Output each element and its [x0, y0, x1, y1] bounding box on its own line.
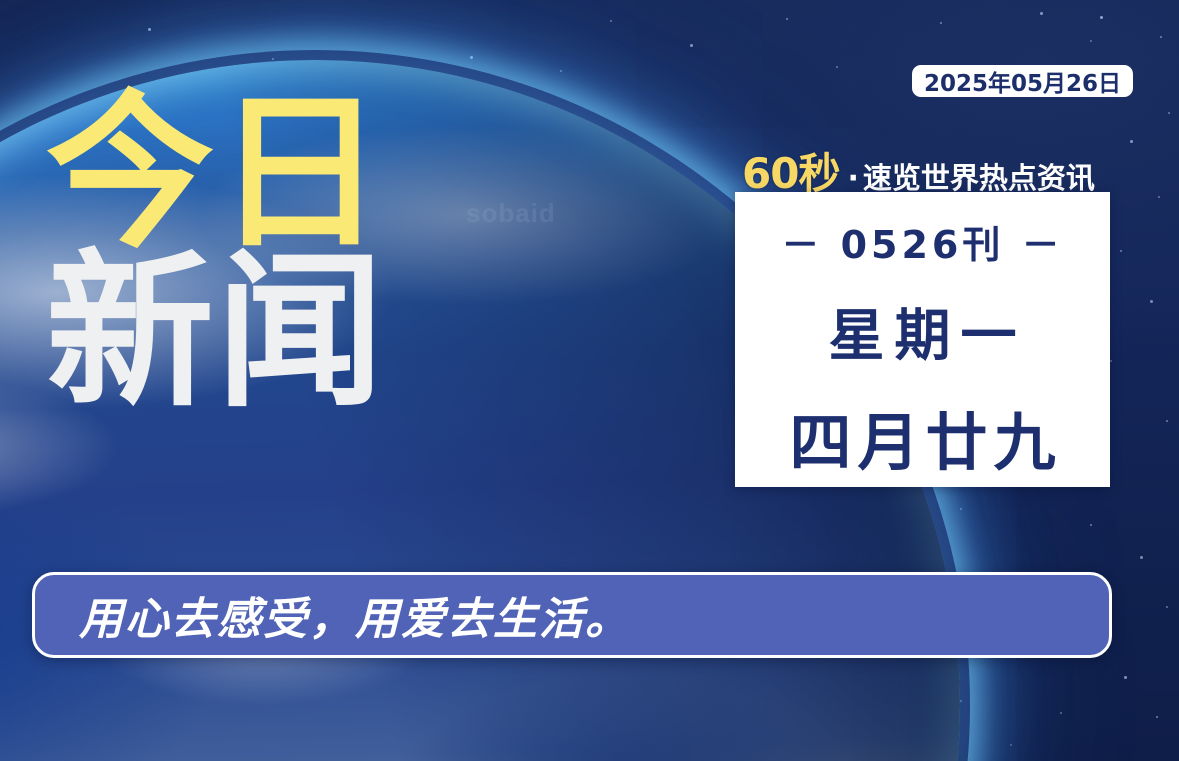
- lunar-date: 四月廿九: [783, 392, 1061, 482]
- tagline-text: 速览世界热点资讯: [863, 155, 1095, 197]
- tagline-separator: ·: [847, 161, 858, 196]
- page-title-line1: 今日: [46, 96, 386, 251]
- quote-text: 用心去感受，用爱去生活。: [79, 583, 631, 647]
- issue-info-card: － 0526刊 － 星期一 四月廿九: [735, 192, 1110, 487]
- date-badge: 2025年05月26日: [912, 65, 1133, 97]
- page-title: 今日 新闻: [46, 96, 386, 409]
- watermark: sobaid: [466, 198, 556, 229]
- page-title-line2: 新闻: [46, 255, 386, 410]
- news-poster: sobaid 今日 新闻 2025年05月26日 60秒 · 速览世界热点资讯 …: [0, 0, 1179, 761]
- quote-banner: 用心去感受，用爱去生活。: [32, 572, 1112, 658]
- issue-number: － 0526刊 －: [781, 214, 1063, 269]
- weekday-label: 星期一: [819, 291, 1027, 372]
